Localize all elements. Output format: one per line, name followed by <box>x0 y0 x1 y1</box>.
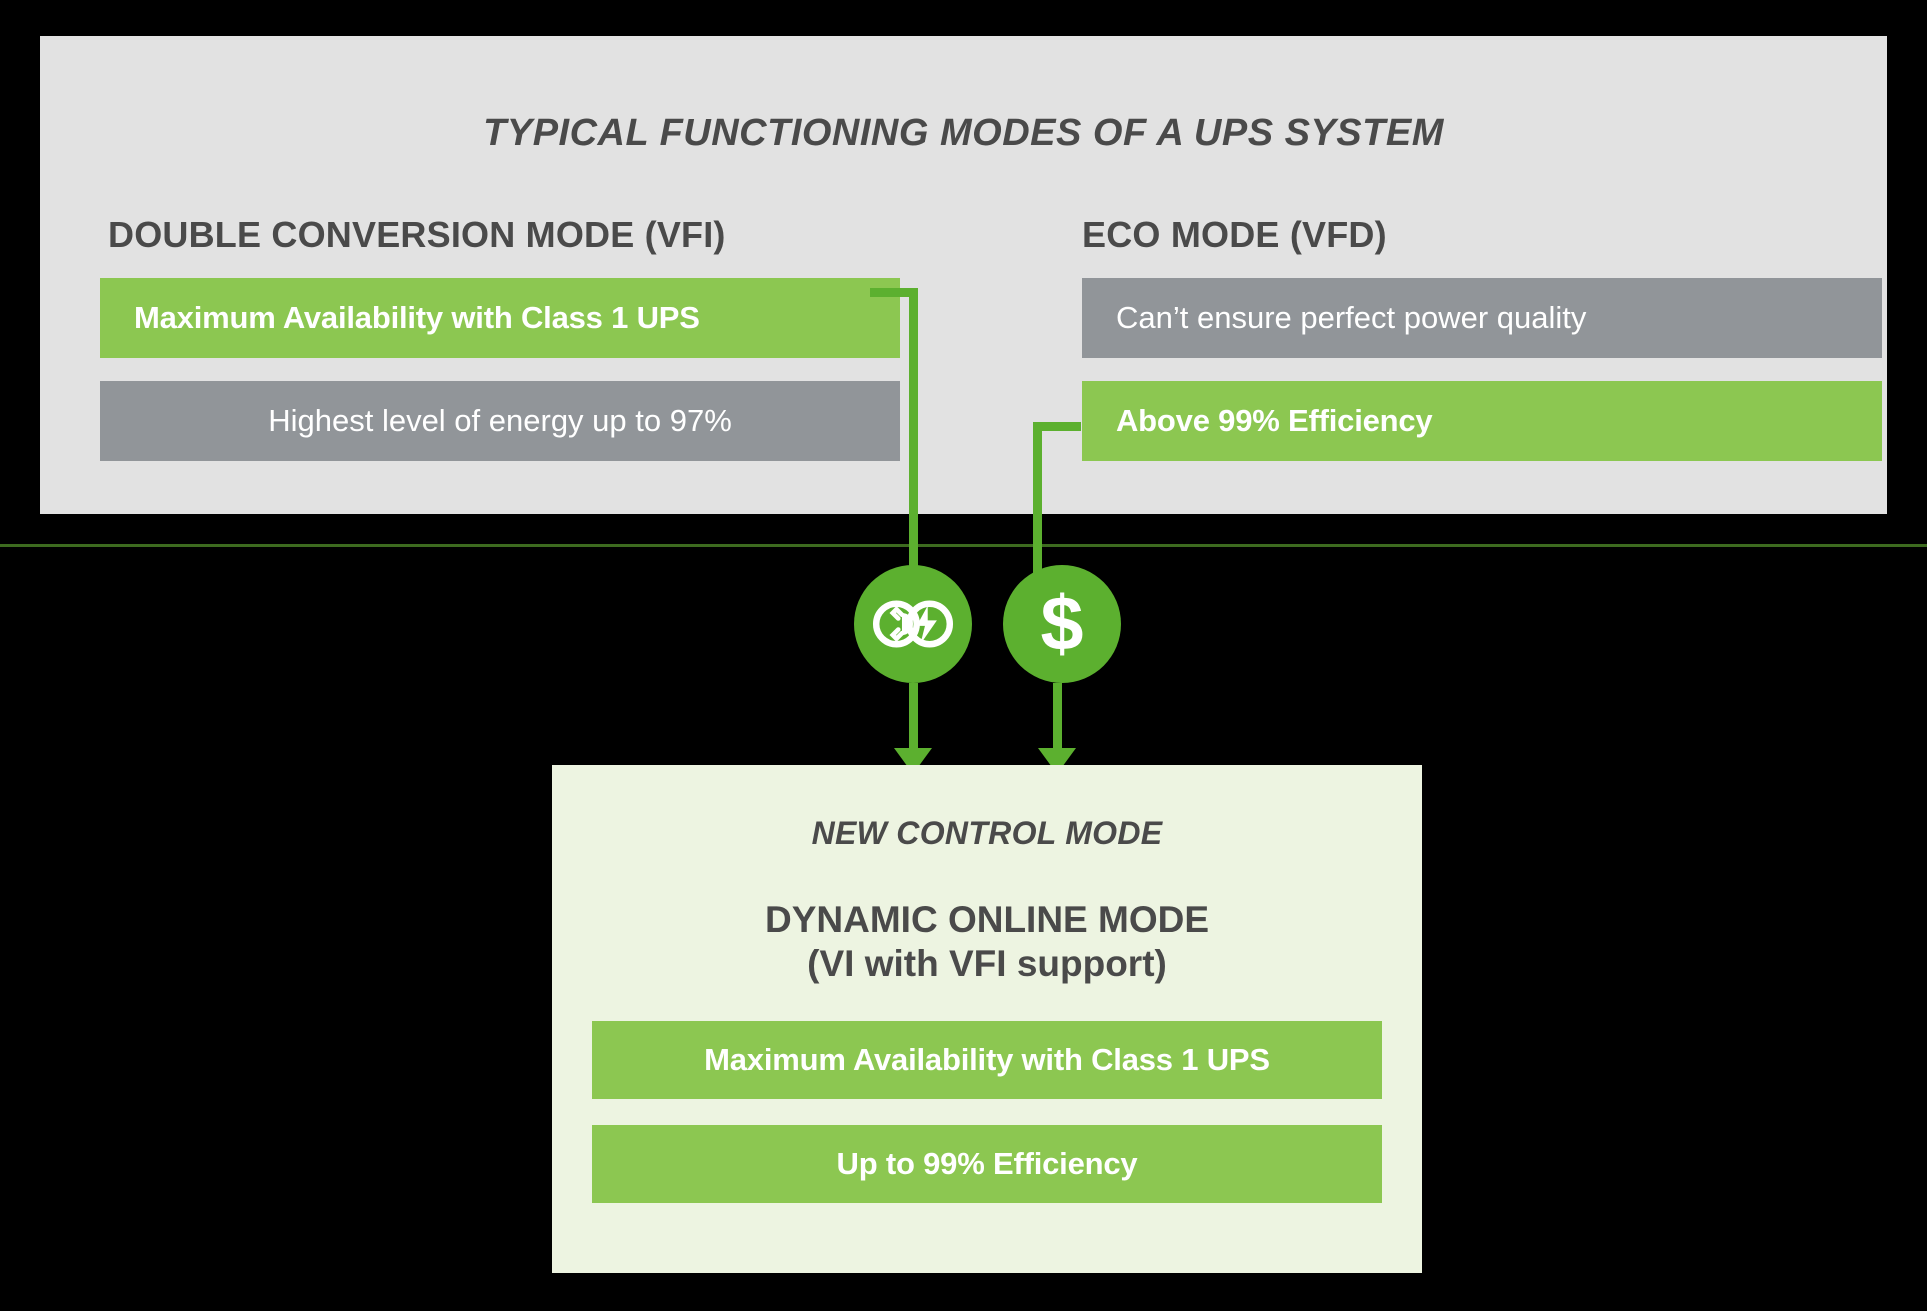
bar-result-max-availability: Maximum Availability with Class 1 UPS <box>592 1021 1382 1099</box>
result-bars: Maximum Availability with Class 1 UPS Up… <box>552 1021 1422 1203</box>
svg-text:$: $ <box>1041 581 1084 667</box>
connector-left-vertical <box>909 288 918 576</box>
dynamic-online-mode-title-line-2: (VI with VFI support) <box>552 942 1422 986</box>
new-control-mode-panel: NEW CONTROL MODE DYNAMIC ONLINE MODE (VI… <box>552 765 1422 1273</box>
page-title: TYPICAL FUNCTIONING MODES OF A UPS SYSTE… <box>40 112 1887 155</box>
bar-cant-ensure-power-quality: Can’t ensure perfect power quality <box>1082 278 1882 358</box>
bar-max-availability-vfi: Maximum Availability with Class 1 UPS <box>100 278 900 358</box>
separator-line <box>0 544 1927 547</box>
arrow-right-stem <box>1053 683 1062 748</box>
column-heading-double-conversion: DOUBLE CONVERSION MODE (VFI) <box>108 214 930 256</box>
connector-right-vertical <box>1033 422 1042 576</box>
bar-above-99-efficiency: Above 99% Efficiency <box>1082 381 1882 461</box>
dollar-icon: $ <box>1003 565 1121 683</box>
column-heading-eco-mode: ECO MODE (VFD) <box>1082 214 1858 256</box>
bar-highest-energy-97: Highest level of energy up to 97% <box>100 381 900 461</box>
arrow-left-stem <box>909 683 918 748</box>
double-conversion-column: DOUBLE CONVERSION MODE (VFI) Maximum Ava… <box>70 214 930 461</box>
typical-modes-panel: TYPICAL FUNCTIONING MODES OF A UPS SYSTE… <box>40 36 1887 514</box>
eco-mode-column: ECO MODE (VFD) Can’t ensure perfect powe… <box>1058 214 1858 461</box>
bar-result-up-to-99-efficiency: Up to 99% Efficiency <box>592 1125 1382 1203</box>
dynamic-online-mode-title: DYNAMIC ONLINE MODE (VI with VFI support… <box>552 898 1422 985</box>
plug-infinity-icon <box>854 565 972 683</box>
dynamic-online-mode-title-line-1: DYNAMIC ONLINE MODE <box>552 898 1422 942</box>
new-control-mode-eyebrow: NEW CONTROL MODE <box>552 815 1422 852</box>
